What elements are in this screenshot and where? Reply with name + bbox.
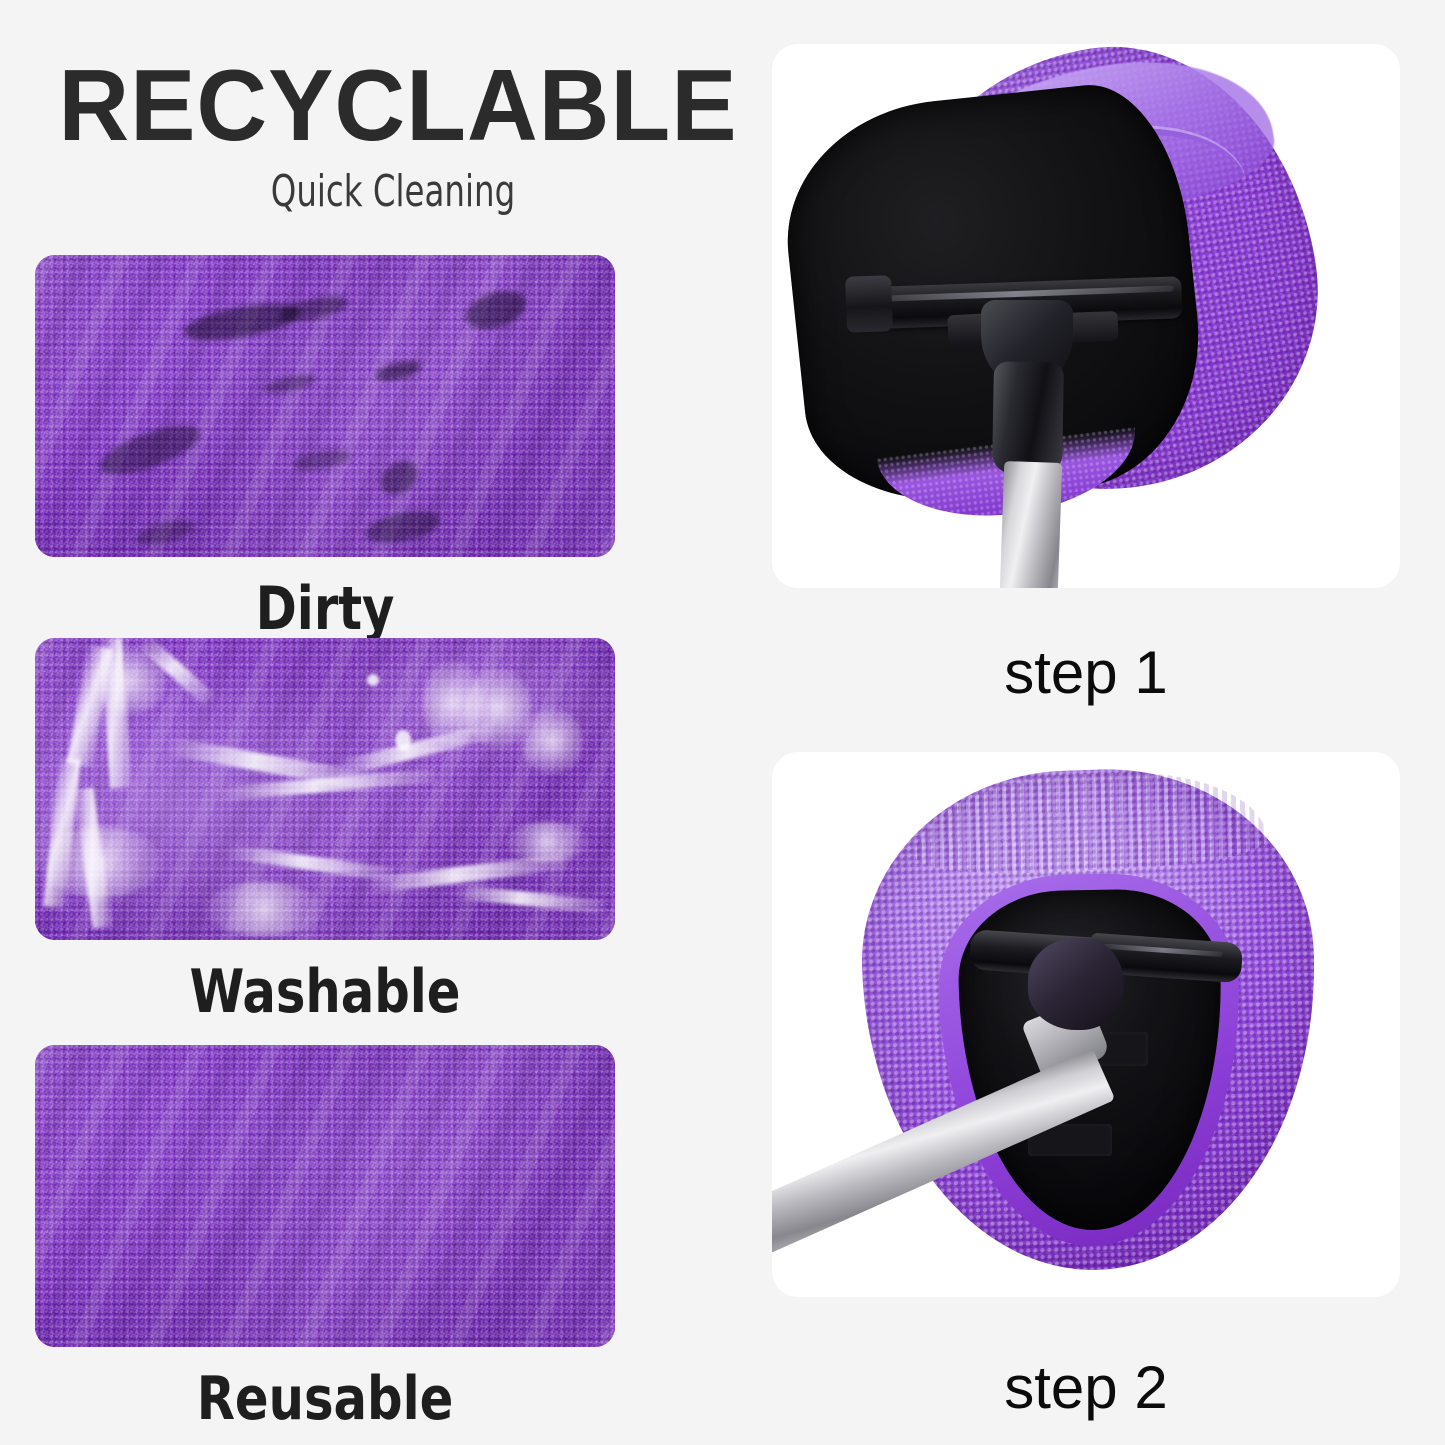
step-1-label: step 1 xyxy=(772,643,1400,703)
pole-collar xyxy=(992,361,1064,474)
water-splash xyxy=(521,708,583,774)
feature-label: Dirty xyxy=(26,579,624,639)
dirty-microfiber-swatch xyxy=(35,255,615,557)
step-2-illustration xyxy=(772,752,1400,1297)
feature-label: Washable xyxy=(26,962,624,1022)
feature-label: Reusable xyxy=(26,1369,624,1429)
page-subtitle: Quick Cleaning xyxy=(110,168,676,216)
mop-head-with-bonnet-photo xyxy=(772,44,1400,588)
page-title: RECYCLABLE xyxy=(58,56,727,157)
water-splash xyxy=(505,822,589,862)
water-splash xyxy=(93,648,167,714)
step-1-illustration xyxy=(772,44,1400,588)
step-2-label: step 2 xyxy=(772,1358,1400,1418)
swivel-joint xyxy=(1028,938,1124,1030)
washable-microfiber-swatch xyxy=(35,638,615,940)
reusable-microfiber-swatch xyxy=(35,1045,615,1347)
bonnet-fitted-on-mop-head-photo xyxy=(772,752,1400,1297)
clamp-bar-end-cap xyxy=(845,275,893,333)
feature-item-reusable: Reusable xyxy=(0,1045,660,1429)
water-splash xyxy=(41,826,161,898)
water-droplet xyxy=(367,674,379,686)
features-column: RECYCLABLE Quick Cleaning Dirty xyxy=(0,0,760,1445)
water-droplet xyxy=(395,730,411,750)
feature-item-dirty: Dirty xyxy=(0,255,660,639)
water-splash xyxy=(205,882,323,936)
steps-column: step 1 step 2 xyxy=(760,0,1445,1445)
telescoping-pole xyxy=(1000,461,1063,588)
feature-item-washable: Washable xyxy=(0,638,660,1022)
microfiber-texture xyxy=(35,1045,615,1347)
